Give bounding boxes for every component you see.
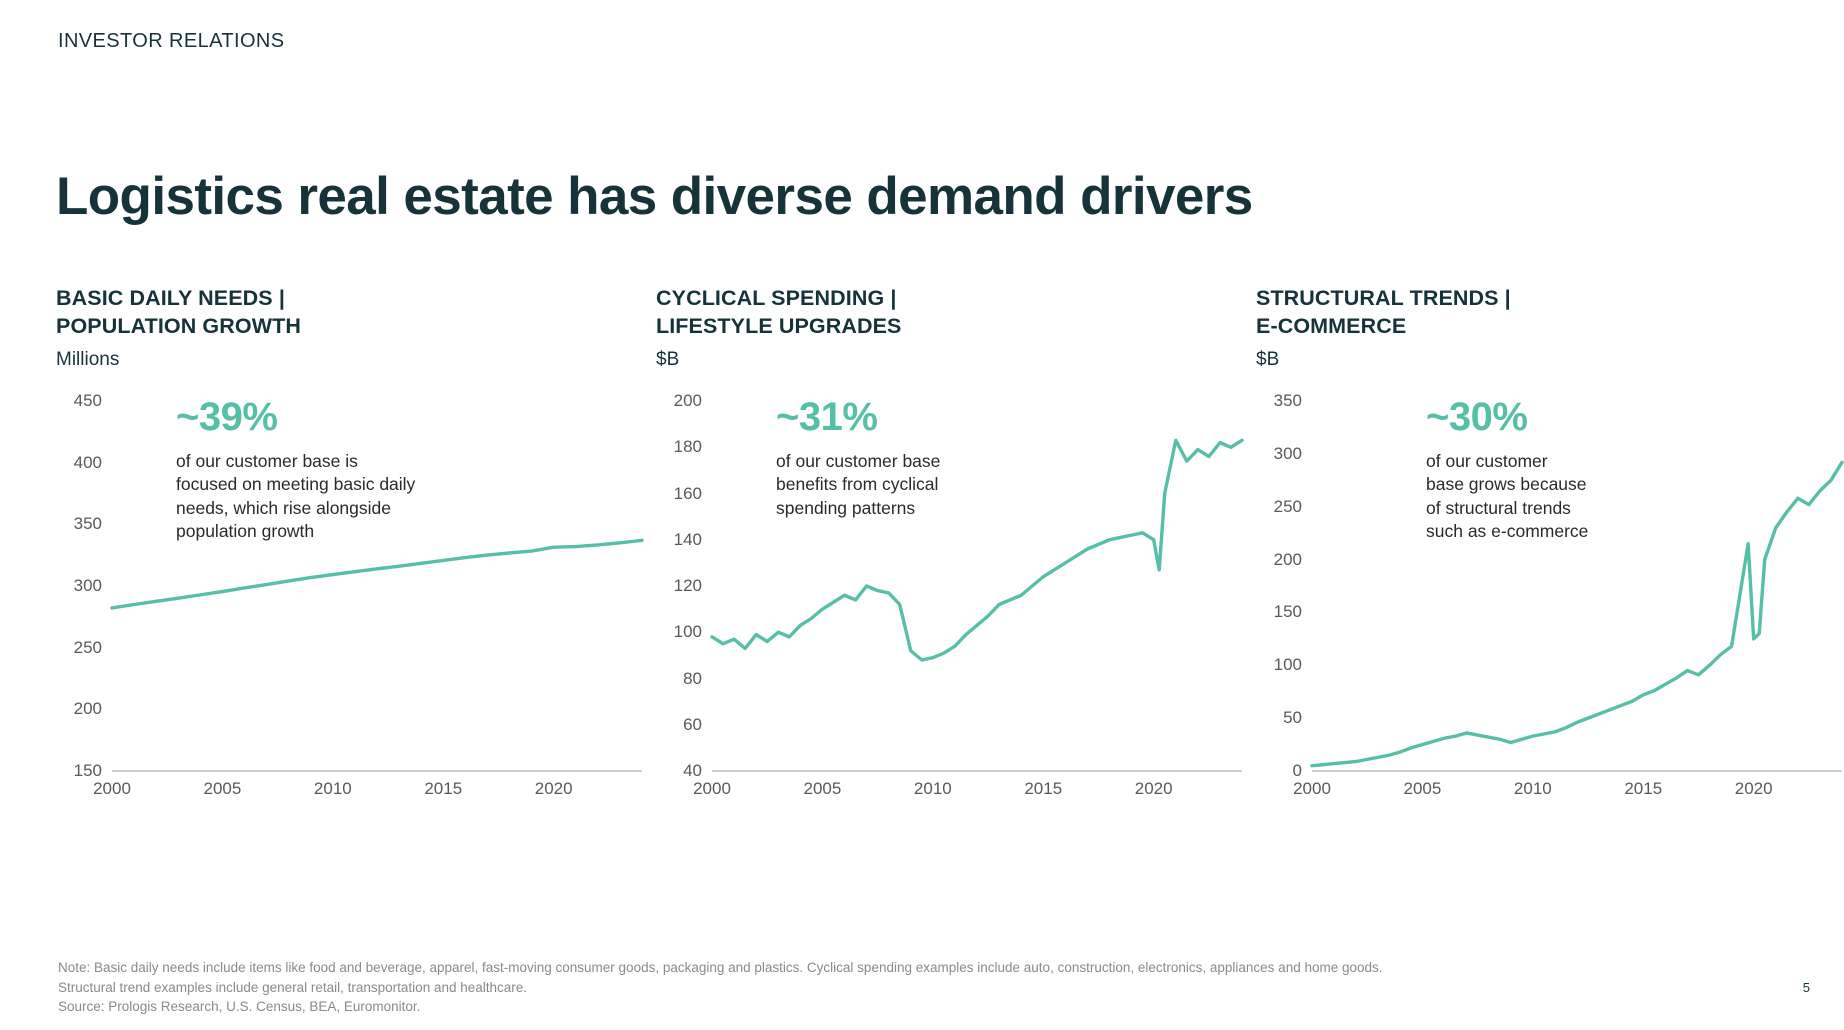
y-axis-tick-label: 160 (656, 484, 702, 504)
columns-container: BASIC DAILY NEEDS | POPULATION GROWTH Mi… (56, 285, 1796, 813)
eyebrow-label: INVESTOR RELATIONS (58, 30, 285, 53)
column-title: CYCLICAL SPENDING | LIFESTYLE UPGRADES (656, 285, 1256, 340)
callout-percentage: ~39% (176, 397, 486, 437)
column-unit-label: Millions (56, 349, 656, 371)
callout-description: of our customer base grows because of st… (1426, 450, 1686, 543)
y-axis-tick-label: 300 (1256, 444, 1302, 464)
y-axis-tick-label: 40 (656, 761, 702, 781)
x-axis-tick-label: 2010 (914, 779, 952, 799)
y-axis-tick-label: 250 (56, 638, 102, 658)
column-structural-trends: STRUCTURAL TRENDS | E-COMMERCE $B 350300… (1256, 285, 1844, 813)
callout-block: ~31% of our customer base benefits from … (776, 397, 1086, 520)
y-axis-tick-label: 400 (56, 453, 102, 473)
y-axis-tick-label: 120 (656, 576, 702, 596)
x-axis-tick-label: 2015 (1624, 779, 1662, 799)
x-axis-tick-label: 2000 (1293, 779, 1331, 799)
column-basic-daily-needs: BASIC DAILY NEEDS | POPULATION GROWTH Mi… (56, 285, 656, 813)
chart-population-growth: 4504003503002502001502000200520102015202… (56, 393, 656, 813)
x-axis-tick-label: 2020 (1135, 779, 1173, 799)
y-axis-tick-label: 200 (1256, 550, 1302, 570)
y-axis-tick-label: 250 (1256, 497, 1302, 517)
callout-description: of our customer base benefits from cycli… (776, 450, 1086, 520)
x-axis-tick-label: 2015 (1024, 779, 1062, 799)
y-axis-tick-label: 180 (656, 437, 702, 457)
x-axis-tick-label: 2020 (535, 779, 573, 799)
callout-percentage: ~30% (1426, 397, 1686, 437)
y-axis-tick-label: 80 (656, 669, 702, 689)
y-axis-tick-label: 300 (56, 576, 102, 596)
x-axis-tick-label: 2005 (803, 779, 841, 799)
y-axis-tick-label: 60 (656, 715, 702, 735)
y-axis-tick-label: 100 (656, 622, 702, 642)
y-axis-tick-label: 50 (1256, 708, 1302, 728)
slide-root: INVESTOR RELATIONS Logistics real estate… (0, 0, 1844, 1030)
column-title: BASIC DAILY NEEDS | POPULATION GROWTH (56, 285, 656, 340)
y-axis-tick-label: 150 (1256, 602, 1302, 622)
page-title: Logistics real estate has diverse demand… (56, 166, 1253, 227)
y-axis-tick-label: 350 (1256, 391, 1302, 411)
x-axis-tick-label: 2010 (314, 779, 352, 799)
callout-description: of our customer base is focused on meeti… (176, 450, 486, 543)
page-number: 5 (1803, 980, 1810, 995)
chart-line-series (112, 540, 642, 608)
y-axis-tick-label: 100 (1256, 655, 1302, 675)
x-axis-tick-label: 2010 (1514, 779, 1552, 799)
x-axis-tick-label: 2015 (424, 779, 462, 799)
column-unit-label: $B (1256, 349, 1844, 371)
x-axis-tick-label: 2000 (693, 779, 731, 799)
chart-ecommerce: 3503002502001501005002000200520102015202… (1256, 393, 1844, 813)
y-axis-tick-label: 350 (56, 514, 102, 534)
column-cyclical-spending: CYCLICAL SPENDING | LIFESTYLE UPGRADES $… (656, 285, 1256, 813)
y-axis-tick-label: 200 (656, 391, 702, 411)
column-title: STRUCTURAL TRENDS | E-COMMERCE (1256, 285, 1844, 340)
y-axis-tick-label: 450 (56, 391, 102, 411)
chart-cyclical-spending: 2001801601401201008060402000200520102015… (656, 393, 1256, 813)
footnote-text: Note: Basic daily needs include items li… (58, 958, 1383, 1017)
x-axis-tick-label: 2020 (1735, 779, 1773, 799)
y-axis-tick-label: 150 (56, 761, 102, 781)
callout-block: ~30% of our customer base grows because … (1426, 397, 1686, 543)
x-axis-tick-label: 2000 (93, 779, 131, 799)
x-axis-tick-label: 2005 (203, 779, 241, 799)
y-axis-tick-label: 0 (1256, 761, 1302, 781)
y-axis-tick-label: 140 (656, 530, 702, 550)
y-axis-tick-label: 200 (56, 699, 102, 719)
callout-percentage: ~31% (776, 397, 1086, 437)
x-axis-tick-label: 2005 (1403, 779, 1441, 799)
callout-block: ~39% of our customer base is focused on … (176, 397, 486, 543)
column-unit-label: $B (656, 349, 1256, 371)
